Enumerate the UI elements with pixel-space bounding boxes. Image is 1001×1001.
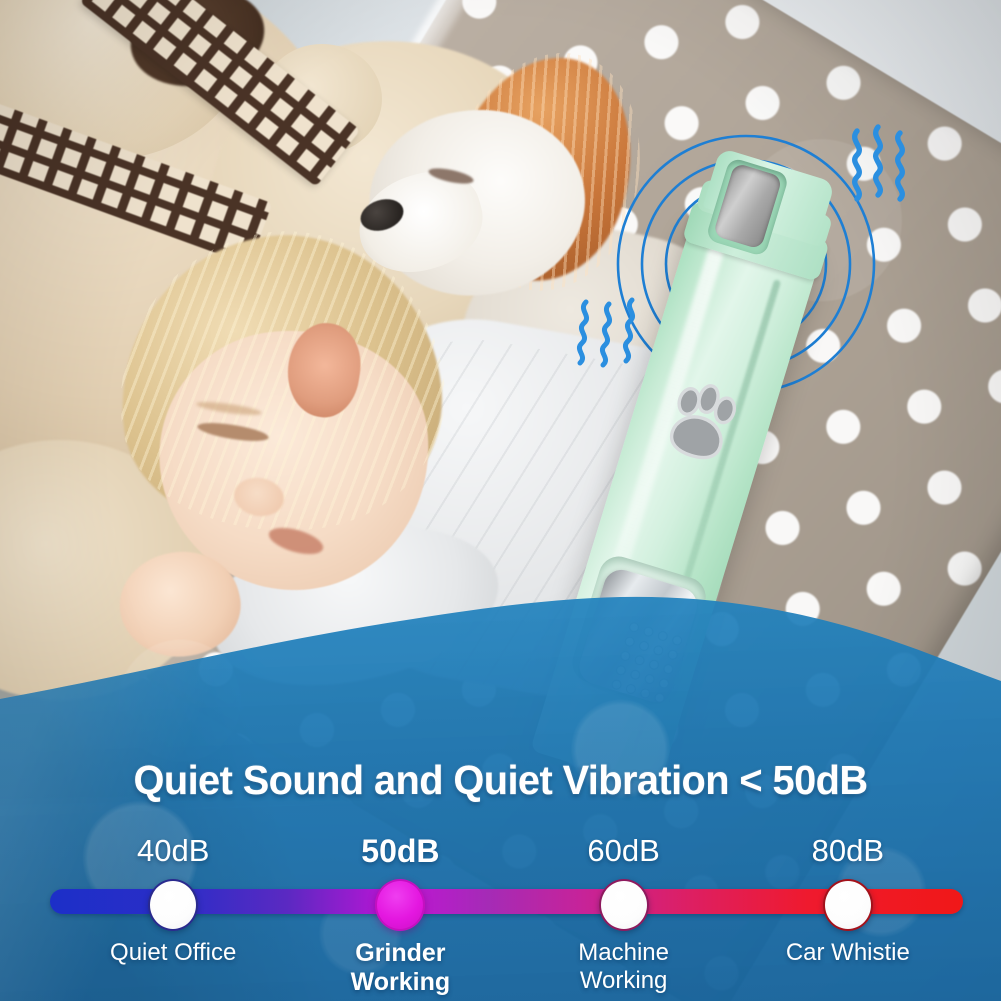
product-marketing-image: Quiet Sound and Quiet Vibration < 50dB 4… bbox=[0, 0, 1001, 1001]
info-banner: Quiet Sound and Quiet Vibration < 50dB 4… bbox=[0, 581, 1001, 1001]
scale-caption-car-whistie: Car Whistie bbox=[786, 939, 910, 967]
caption-line: Working bbox=[578, 967, 669, 995]
decibel-value-row: 40dB 50dB 60dB 80dB bbox=[0, 829, 1001, 873]
decibel-value-80: 80dB bbox=[812, 829, 884, 873]
scale-caption-machine-working: Machine Working bbox=[578, 939, 669, 995]
caption-line: Machine bbox=[578, 939, 669, 967]
scale-marker-40db[interactable] bbox=[148, 879, 198, 931]
banner-title: Quiet Sound and Quiet Vibration < 50dB bbox=[15, 757, 986, 804]
caption-line: Car Whistie bbox=[786, 939, 910, 967]
caption-line: Grinder bbox=[351, 939, 451, 968]
caption-line: Working bbox=[351, 968, 451, 997]
scale-marker-80db[interactable] bbox=[823, 879, 873, 931]
scale-caption-grinder-working: Grinder Working bbox=[351, 939, 451, 997]
scale-caption-quiet-office: Quiet Office bbox=[110, 939, 236, 967]
decibel-value-60: 60dB bbox=[587, 829, 659, 873]
caption-line: Quiet Office bbox=[110, 939, 236, 967]
decibel-value-50: 50dB bbox=[361, 829, 439, 873]
scale-marker-50db-active[interactable] bbox=[375, 879, 425, 931]
scale-marker-60db[interactable] bbox=[599, 879, 649, 931]
decibel-scale: 40dB 50dB 60dB 80dB Quiet Office Grinder… bbox=[0, 821, 1001, 1001]
decibel-value-40: 40dB bbox=[137, 829, 209, 873]
